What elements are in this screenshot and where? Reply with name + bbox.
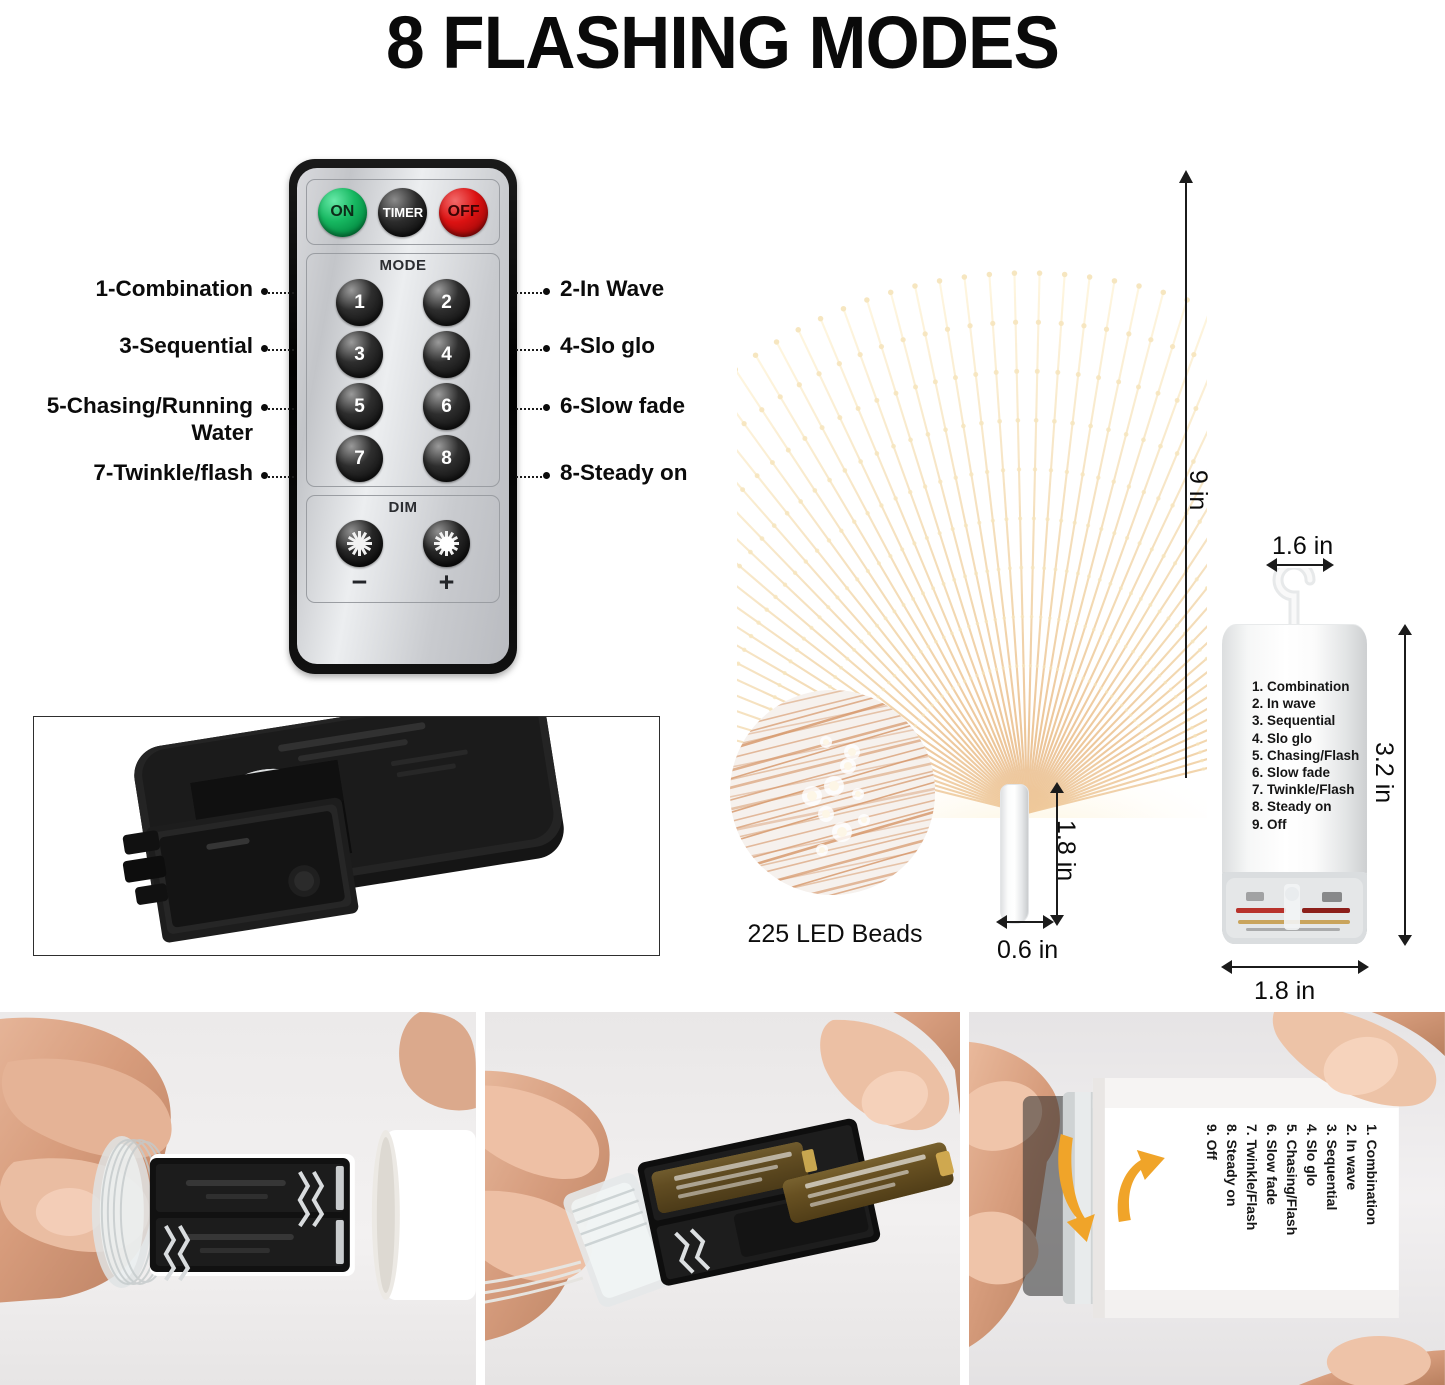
callout-line-5 — [268, 408, 294, 410]
dim-signs: − + — [316, 572, 490, 592]
fan-height-arrow-top — [1178, 170, 1194, 186]
mode-button-2[interactable]: 2 — [423, 279, 470, 326]
svg-text:1. Combination: 1. Combination — [1364, 1124, 1380, 1225]
callout-mode-2: 2-In Wave — [560, 275, 664, 302]
svg-text:9. Off: 9. Off — [1204, 1124, 1220, 1160]
led-bead-closeup — [730, 690, 935, 895]
stem-width-arrow-left — [996, 914, 1008, 930]
hook-width-line — [1274, 564, 1326, 566]
svg-text:2. In wave: 2. In wave — [1344, 1124, 1360, 1190]
controller-hook-icon — [1268, 568, 1320, 630]
controller-base-circuitry — [1222, 872, 1367, 944]
battery-drawer-illustration — [34, 717, 659, 955]
svg-text:6. Slow fade: 6. Slow fade — [1264, 1124, 1280, 1205]
controller-mode-2: 2. In wave — [1252, 695, 1359, 712]
on-button[interactable]: ON — [318, 188, 367, 237]
callout-dot-5 — [261, 404, 268, 411]
callout-dot-8 — [543, 472, 550, 479]
dim-button-group: DIM — [306, 495, 500, 603]
mode-button-7[interactable]: 7 — [336, 435, 383, 482]
callout-line-6 — [516, 408, 542, 410]
instruction-photos: 1. Combination 2. In wave 3. Sequential … — [0, 1012, 1445, 1385]
fan-height-label: 9 in — [1183, 470, 1212, 510]
remote-face: ON TIMER OFF MODE 1 2 3 4 5 6 7 8 DIM — [297, 168, 509, 664]
stem-width-label: 0.6 in — [997, 936, 1058, 965]
controller-mode-8: 8. Steady on — [1252, 798, 1359, 815]
callout-line-1 — [268, 292, 294, 294]
photo-step-twist-close-cap: 1. Combination 2. In wave 3. Sequential … — [969, 1012, 1445, 1385]
callout-line-2 — [516, 292, 542, 294]
svg-text:3. Sequential: 3. Sequential — [1324, 1124, 1340, 1210]
controller-width-arrow-right — [1357, 959, 1369, 975]
hook-width-label: 1.6 in — [1272, 532, 1333, 561]
callout-dot-2 — [543, 288, 550, 295]
mode-button-8[interactable]: 8 — [423, 435, 470, 482]
dim-row — [316, 520, 490, 567]
stem-width-line — [1003, 921, 1047, 923]
svg-text:5. Chasing/Flash: 5. Chasing/Flash — [1284, 1124, 1300, 1235]
sun-large-icon — [434, 531, 460, 557]
callout-mode-7: 7-Twinkle/flash — [40, 459, 253, 486]
svg-text:4. Slo glo: 4. Slo glo — [1304, 1124, 1320, 1186]
callout-mode-5: 5-Chasing/Running Water — [18, 392, 253, 446]
controller-mode-3: 3. Sequential — [1252, 712, 1359, 729]
sun-small-icon — [347, 531, 373, 557]
controller-height-label: 3.2 in — [1369, 742, 1398, 803]
dim-down-button[interactable] — [336, 520, 383, 567]
mode-button-4[interactable]: 4 — [423, 331, 470, 378]
mode-button-1[interactable]: 1 — [336, 279, 383, 326]
svg-text:7. Twinkle/Flash: 7. Twinkle/Flash — [1244, 1124, 1260, 1230]
controller-width-line — [1229, 966, 1362, 968]
remote-control: ON TIMER OFF MODE 1 2 3 4 5 6 7 8 DIM — [289, 159, 517, 674]
controller-mode-5: 5. Chasing/Flash — [1252, 747, 1359, 764]
led-bead-caption: 225 LED Beads — [690, 920, 980, 949]
dim-group-label: DIM — [307, 499, 499, 516]
infographic-page: 8 FLASHING MODES ON TIMER OFF MODE 1 2 3… — [0, 0, 1445, 1385]
controller-width-arrow-left — [1221, 959, 1233, 975]
dim-up-button[interactable] — [423, 520, 470, 567]
photo-3-illustration: 1. Combination 2. In wave 3. Sequential … — [969, 1012, 1445, 1385]
callout-mode-6: 6-Slow fade — [560, 392, 685, 419]
mode-grid: 1 2 3 4 5 6 7 8 — [316, 279, 490, 482]
callout-line-7 — [268, 476, 294, 478]
controller-mode-6: 6. Slow fade — [1252, 764, 1359, 781]
controller-mode-7: 7. Twinkle/Flash — [1252, 781, 1359, 798]
controller-clear-base — [1222, 872, 1367, 944]
photo-step-open-battery-holder — [0, 1012, 476, 1385]
power-button-group: ON TIMER OFF — [306, 179, 500, 245]
callout-dot-3 — [261, 345, 268, 352]
photo-step-insert-batteries — [485, 1012, 961, 1385]
callout-line-8 — [516, 476, 542, 478]
callout-dot-4 — [543, 345, 550, 352]
controller-mode-list: 1. Combination 2. In wave 3. Sequential … — [1252, 678, 1359, 833]
photo-1-illustration — [0, 1012, 476, 1385]
controller-height-arrow-top — [1397, 624, 1413, 636]
controller-mode-1: 1. Combination — [1252, 678, 1359, 695]
controller-height-line — [1404, 632, 1406, 938]
stem-width-arrow-right — [1042, 914, 1054, 930]
controller-mode-9: 9. Off — [1252, 816, 1359, 833]
mode-group-label: MODE — [307, 257, 499, 274]
mode-button-6[interactable]: 6 — [423, 383, 470, 430]
controller-width-label: 1.8 in — [1254, 977, 1315, 1006]
stem-height-arrow-top — [1049, 782, 1065, 794]
callout-dot-7 — [261, 472, 268, 479]
callout-mode-8: 8-Steady on — [560, 459, 688, 486]
fan-stem — [1000, 784, 1029, 924]
callout-mode-4: 4-Slo glo — [560, 332, 655, 359]
photo-2-illustration — [485, 1012, 961, 1385]
dim-minus-label: − — [352, 572, 368, 592]
svg-text:8. Steady on: 8. Steady on — [1224, 1124, 1240, 1206]
controller-height-arrow-bottom — [1397, 934, 1413, 946]
callout-mode-1: 1-Combination — [40, 275, 253, 302]
mode-button-3[interactable]: 3 — [336, 331, 383, 378]
mode-button-group: MODE 1 2 3 4 5 6 7 8 — [306, 253, 500, 487]
dim-plus-label: + — [439, 572, 455, 592]
callout-mode-3: 3-Sequential — [40, 332, 253, 359]
callout-line-4 — [516, 349, 542, 351]
mode-button-5[interactable]: 5 — [336, 383, 383, 430]
page-title: 8 FLASHING MODES — [43, 2, 1401, 84]
remote-battery-drawer-photo — [33, 716, 660, 956]
callout-line-3 — [268, 349, 294, 351]
stem-height-label: 1.8 in — [1051, 820, 1080, 881]
timer-button[interactable]: TIMER — [378, 188, 427, 237]
bead-svg — [730, 690, 935, 895]
callout-dot-1 — [261, 288, 268, 295]
callout-dot-6 — [543, 404, 550, 411]
controller-mode-4: 4. Slo glo — [1252, 730, 1359, 747]
off-button[interactable]: OFF — [439, 188, 488, 237]
